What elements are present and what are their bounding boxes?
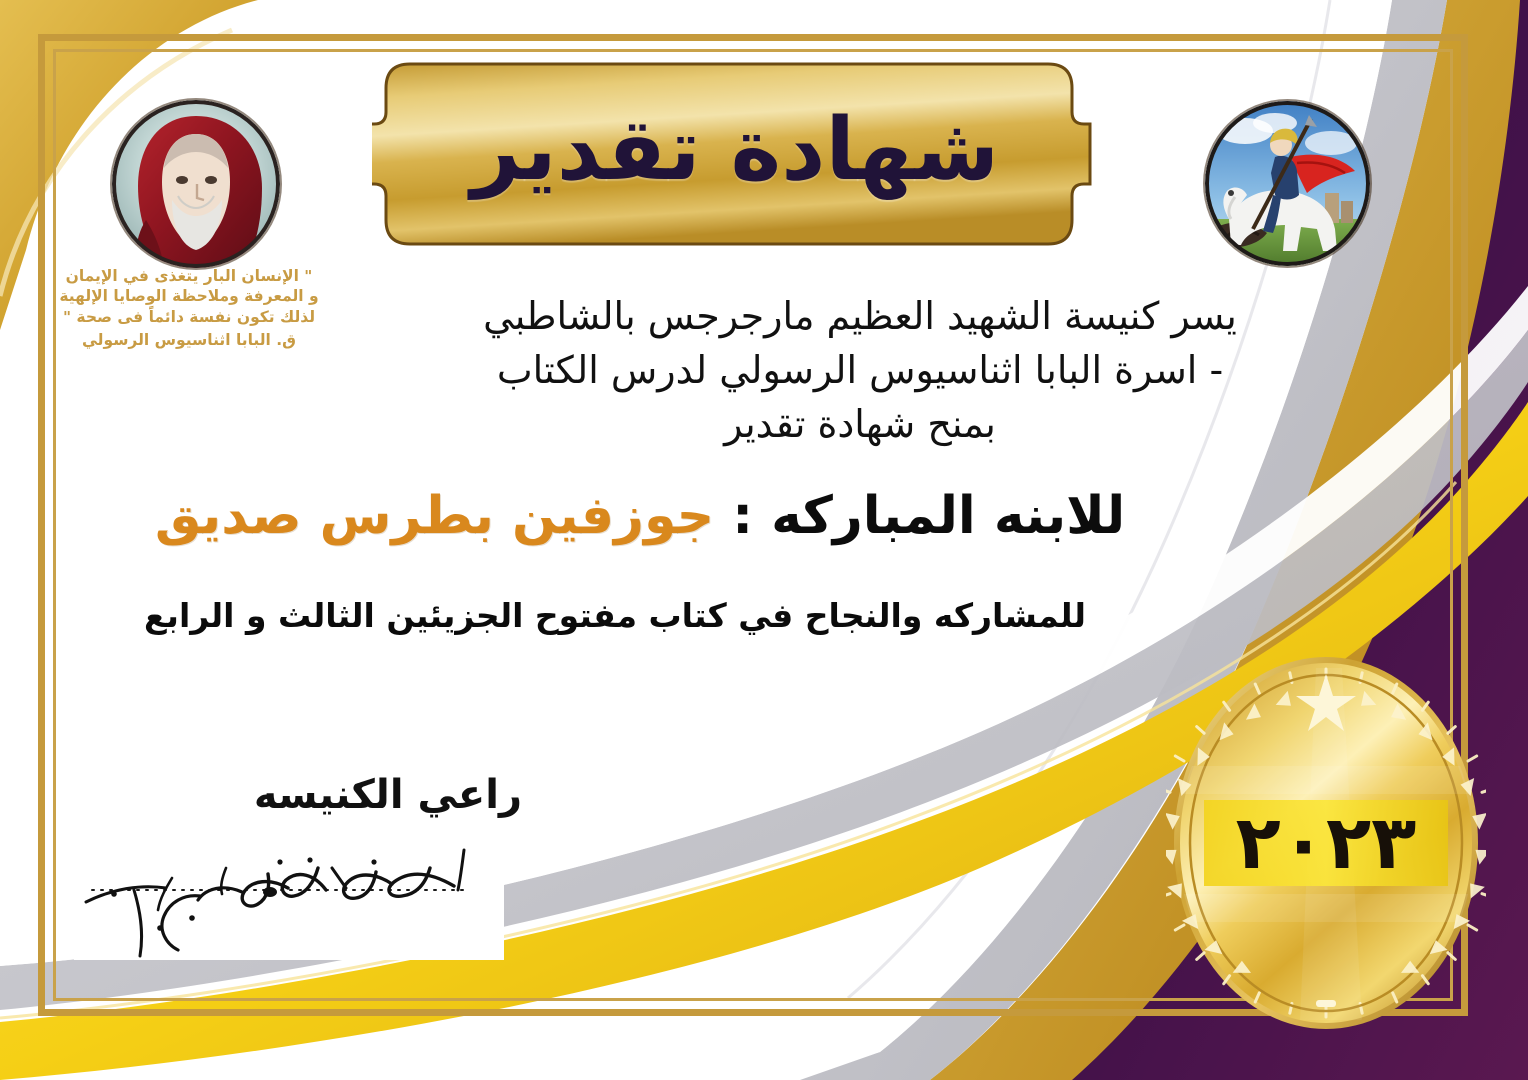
page-title: شهادة تقدير bbox=[372, 52, 1098, 248]
quote-line: لذلك تكون نفسة دائماً فى صحة " bbox=[58, 307, 320, 327]
quote-author: ق. البابا اثناسيوس الرسولي bbox=[58, 330, 320, 350]
body-line: - اسرة البابا اثناسيوس الرسولي لدرس الكت… bbox=[330, 344, 1390, 398]
signature-title: راعي الكنيسه bbox=[254, 772, 522, 818]
award-reason: للمشاركه والنجاح في كتاب مفتوح الجزيئين … bbox=[110, 596, 1120, 635]
handwritten-signature-icon bbox=[74, 832, 504, 960]
certificate-page: شهادة تقدير bbox=[0, 0, 1528, 1080]
title-plaque: شهادة تقدير bbox=[372, 56, 1098, 252]
body-paragraph: يسر كنيسة الشهيد العظيم مارجرجس بالشاطبي… bbox=[330, 290, 1390, 452]
signature-card bbox=[74, 832, 504, 960]
saint-george-icon bbox=[1205, 101, 1370, 266]
quote-line: " الإنسان البار يتغذى في الإيمان bbox=[58, 266, 320, 286]
signature-block: راعي الكنيسه bbox=[66, 772, 586, 962]
quote-line: و المعرفة وملاحظة الوصايا الإلهية bbox=[58, 286, 320, 306]
saint-athanasius-icon bbox=[112, 100, 280, 268]
recipient-line: للابنه المباركه : جوزفين بطرس صديق bbox=[120, 486, 1160, 546]
gold-medal-seal: ٢٠٢٣ bbox=[1166, 648, 1486, 1038]
recipient-name: جوزفين بطرس صديق bbox=[155, 486, 714, 546]
quote-block: " الإنسان البار يتغذى في الإيمان و المعر… bbox=[58, 266, 320, 351]
recipient-label: للابنه المباركه : bbox=[732, 486, 1125, 546]
body-line: يسر كنيسة الشهيد العظيم مارجرجس بالشاطبي bbox=[330, 290, 1390, 344]
medal-year: ٢٠٢٣ bbox=[1166, 800, 1486, 886]
body-line: بمنح شهادة تقدير bbox=[330, 398, 1390, 452]
